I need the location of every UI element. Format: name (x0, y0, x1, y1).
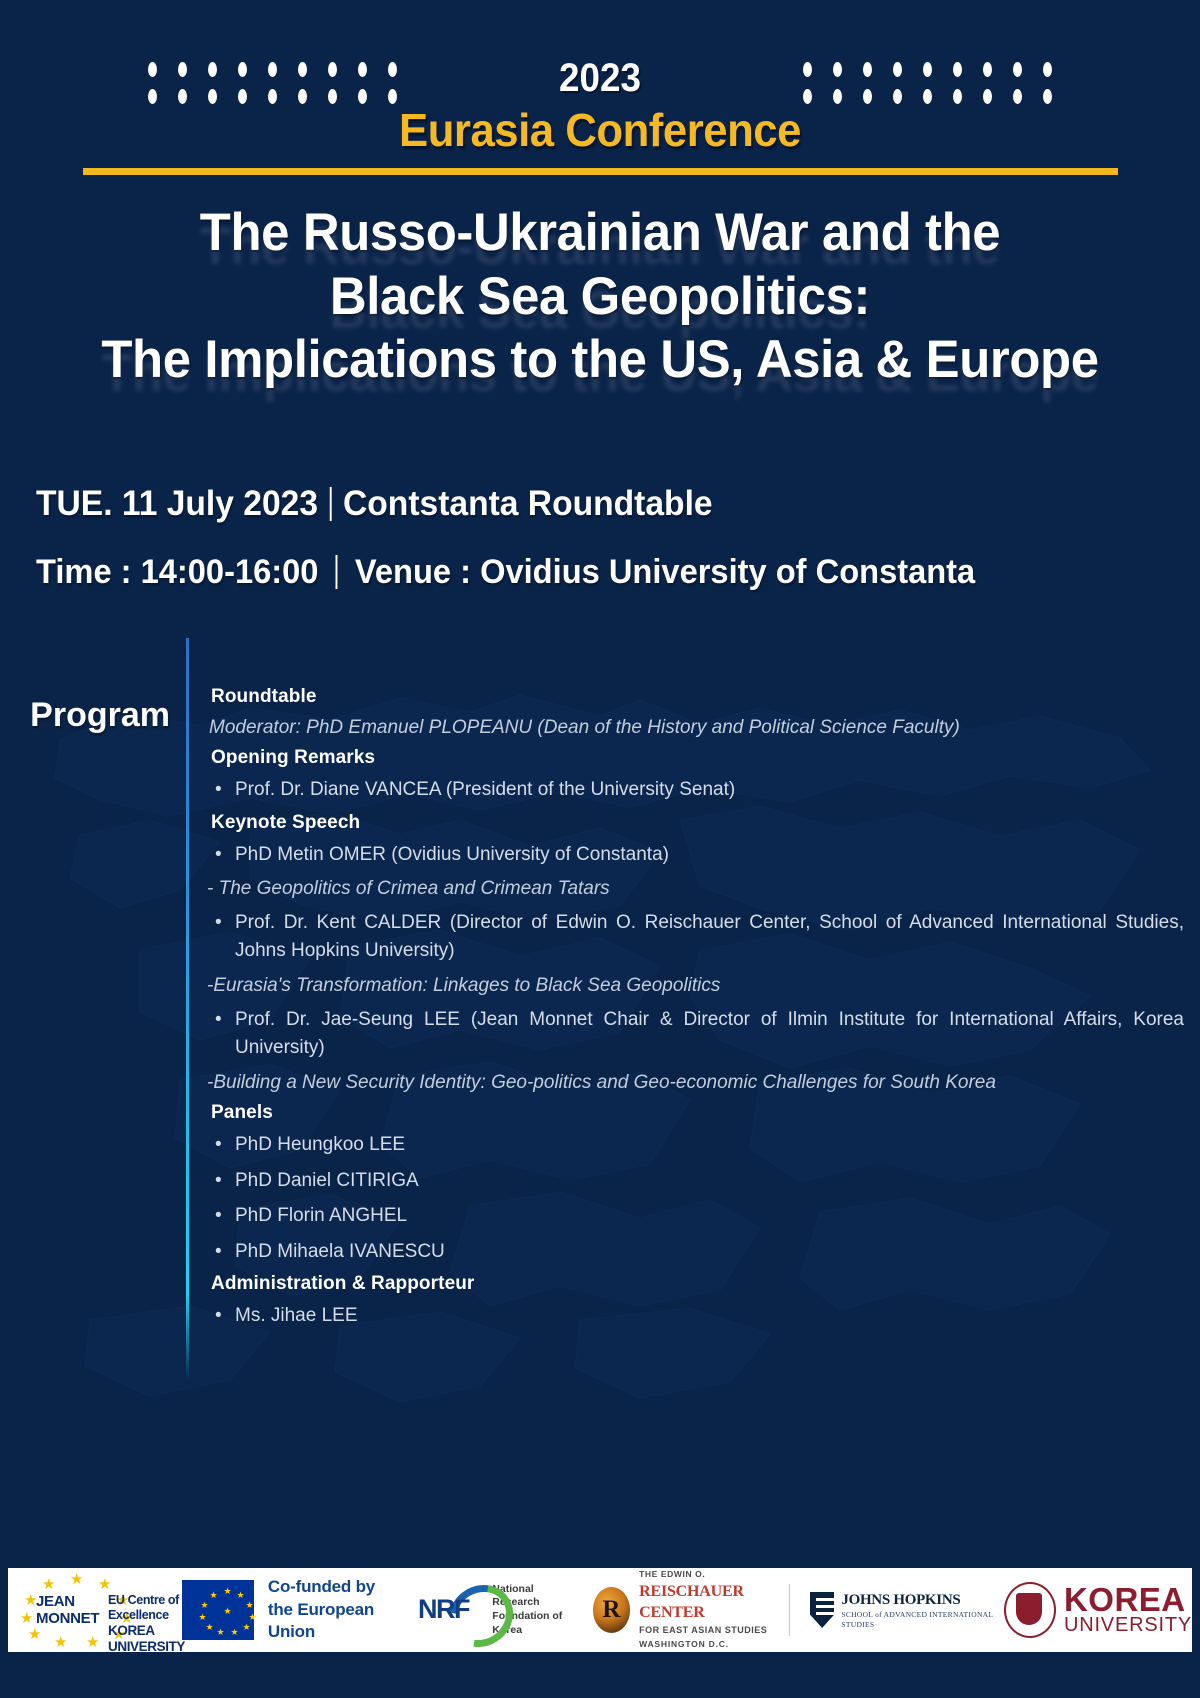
poster-header: 2023 Eurasia Conference (0, 0, 1200, 175)
jean-monnet-wordmark: JEAN MONNET (36, 1593, 99, 1628)
conference-name: Eurasia Conference (30, 106, 1170, 154)
logo-separator (789, 1584, 790, 1636)
nrf-logo: NRF National Research Foundation of Kore… (418, 1568, 577, 1652)
bullet-icon: • (215, 841, 235, 870)
eu-cofunding-logo: ★ ★ ★ ★ ★ ★ ★ ★ ★ ★ ★ ★ Co-funded by the… (180, 1568, 396, 1652)
bullet-icon: • (215, 1302, 235, 1331)
list-item: • PhD Heungkoo LEE (215, 1131, 1184, 1160)
meta-row-date: TUE. 11 July 2023 Contstanta Roundtable (36, 478, 1153, 531)
page-title: The Russo-Ukrainian War and the The Russ… (0, 201, 1200, 392)
bullet-icon: • (215, 1131, 235, 1160)
korea-university-crest-icon (1004, 1582, 1056, 1638)
list-item: • PhD Metin OMER (Ovidius University of … (215, 841, 1184, 870)
reischauer-seal-icon (593, 1587, 631, 1633)
moderator-text: Moderator: PhD Emanuel PLOPEANU (Dean of… (209, 715, 1184, 741)
johns-hopkins-shield-icon (810, 1592, 835, 1628)
meta-row-time-venue: Time : 14:00-16:00 Venue : Ovidius Unive… (36, 547, 1153, 598)
meta-separator-icon (330, 487, 332, 521)
roundtable-heading: Roundtable (211, 686, 1184, 708)
nrf-mark-icon: NRF (418, 1585, 490, 1635)
event-time: Time : 14:00-16:00 (36, 547, 318, 598)
keynote-topic-1: - The Geopolitics of Crimea and Crimean … (207, 876, 1184, 902)
conference-year: 2023 (48, 58, 1152, 98)
meta-separator-icon (336, 555, 338, 589)
sponsor-logo-bar: ★ ★ ★ ★ ★ ★ ★ ★ ★ ★ ★ JEAN MONNET EU Cen… (8, 1568, 1192, 1652)
panelist-name: PhD Florin ANGHEL (235, 1202, 1184, 1231)
gold-divider-rule (83, 168, 1118, 175)
panelist-name: PhD Daniel CITIRIGA (235, 1167, 1184, 1196)
program-content: Roundtable Moderator: PhD Emanuel PLOPEA… (189, 638, 1200, 1383)
reischauer-line-1: THE EDWIN O. (639, 1569, 781, 1580)
panelist-name: PhD Mihaela IVANESCU (235, 1238, 1184, 1267)
list-item: • PhD Florin ANGHEL (215, 1202, 1184, 1231)
keynote-speaker-3: Prof. Dr. Jae-Seung LEE (Jean Monnet Cha… (235, 1006, 1184, 1063)
jean-monnet-logo: ★ ★ ★ ★ ★ ★ ★ ★ ★ ★ ★ JEAN MONNET EU Cen… (20, 1573, 180, 1647)
keynote-speech-heading: Keynote Speech (211, 812, 1184, 834)
keynote-speaker-1: PhD Metin OMER (Ovidius University of Co… (235, 841, 1184, 870)
list-item: • Ms. Jihae LEE (215, 1302, 1184, 1331)
johns-hopkins-wordmark: JOHNS HOPKINS (841, 1591, 994, 1611)
event-name: Contstanta Roundtable (343, 478, 713, 531)
johns-hopkins-subtitle: SCHOOL of ADVANCED INTERNATIONAL STUDIES (841, 1610, 994, 1630)
list-item: • Prof. Dr. Diane VANCEA (President of t… (215, 776, 1184, 805)
reischauer-center-logo: THE EDWIN O. REISCHAUER CENTER FOR EAST … (593, 1568, 781, 1652)
panels-heading: Panels (211, 1102, 1184, 1124)
eu-cofunding-text: Co-funded by the European Union (268, 1576, 396, 1645)
reischauer-line-2: REISCHAUER CENTER (639, 1581, 781, 1624)
bullet-icon: • (215, 1006, 235, 1063)
bullet-icon: • (215, 1167, 235, 1196)
title-line-3: The Implications to the US, Asia & Europ… (24, 328, 1176, 392)
title-line-2: Black Sea Geopolitics: Black Sea Geopoli… (24, 265, 1176, 329)
keynote-topic-2: -Eurasia's Transformation: Linkages to B… (207, 973, 1184, 999)
eu-centre-excellence-text: EU Centre of Excellence KOREA UNIVERSITY (108, 1593, 185, 1655)
reischauer-line-4: WASHINGTON D.C. (639, 1639, 781, 1650)
keynote-topic-3: -Building a New Security Identity: Geo-p… (207, 1070, 1184, 1096)
korea-wordmark: KOREA (1064, 1584, 1192, 1616)
johns-hopkins-logo: JOHNS HOPKINS SCHOOL of ADVANCED INTERNA… (810, 1568, 994, 1652)
bullet-icon: • (215, 1238, 235, 1267)
reischauer-line-3: FOR EAST ASIAN STUDIES (639, 1624, 781, 1636)
event-venue: Venue : Ovidius University of Constanta (355, 547, 975, 598)
opening-speaker: Prof. Dr. Diane VANCEA (President of the… (235, 776, 1184, 805)
list-item: • Prof. Dr. Jae-Seung LEE (Jean Monnet C… (215, 1006, 1184, 1063)
administration-person: Ms. Jihae LEE (235, 1302, 1184, 1331)
panelist-name: PhD Heungkoo LEE (235, 1131, 1184, 1160)
opening-remarks-heading: Opening Remarks (211, 747, 1184, 769)
korea-university-logo: KOREA UNIVERSITY (1004, 1568, 1192, 1652)
korea-university-subtitle: UNIVERSITY (1064, 1616, 1192, 1636)
nrf-acronym: NRF (418, 1594, 469, 1625)
bullet-icon: • (215, 909, 235, 966)
bullet-icon: • (215, 1202, 235, 1231)
program-section: Program Roundtable Moderator: PhD Emanue… (0, 638, 1200, 1383)
list-item: • Prof. Dr. Kent CALDER (Director of Edw… (215, 909, 1184, 966)
eu-flag-icon: ★ ★ ★ ★ ★ ★ ★ ★ ★ ★ ★ ★ (182, 1580, 253, 1640)
list-item: • PhD Mihaela IVANESCU (215, 1238, 1184, 1267)
list-item: • PhD Daniel CITIRIGA (215, 1167, 1184, 1196)
bullet-icon: • (215, 776, 235, 805)
title-line-1: The Russo-Ukrainian War and the The Russ… (24, 201, 1176, 265)
keynote-speaker-2: Prof. Dr. Kent CALDER (Director of Edwin… (235, 909, 1184, 966)
administration-heading: Administration & Rapporteur (211, 1273, 1184, 1295)
event-date: TUE. 11 July 2023 (36, 478, 318, 531)
event-meta: TUE. 11 July 2023 Contstanta Roundtable … (0, 478, 1200, 598)
program-label: Program (0, 638, 186, 1383)
